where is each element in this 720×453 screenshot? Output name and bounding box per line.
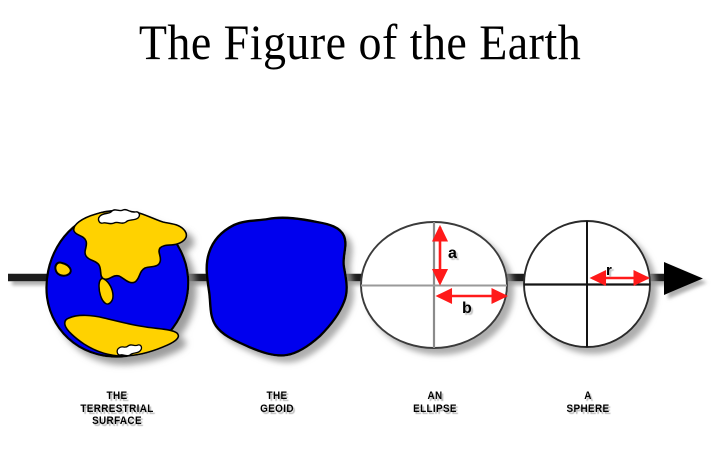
caption-ellipse: AN ELLIPSE [372,390,498,415]
label-radius: r [606,262,612,279]
axis-arrowhead [664,262,703,295]
label-semi-major-axis: b [462,300,472,318]
caption-sphere: A SPHERE [525,390,651,415]
earth-figure-illustration [0,0,720,453]
caption-geoid: THE GEOID [214,390,340,415]
ellipse-figure [361,222,507,348]
sphere-figure [524,221,650,347]
geoid-blob [207,218,347,356]
caption-terrestrial-surface: THE TERRESTRIAL SURFACE [54,390,180,428]
geoid-shape [207,218,347,356]
label-semi-minor-axis: a [448,245,457,263]
terrestrial-surface-globe [46,210,188,357]
diagram-canvas: The Figure of the Earth [0,0,720,453]
